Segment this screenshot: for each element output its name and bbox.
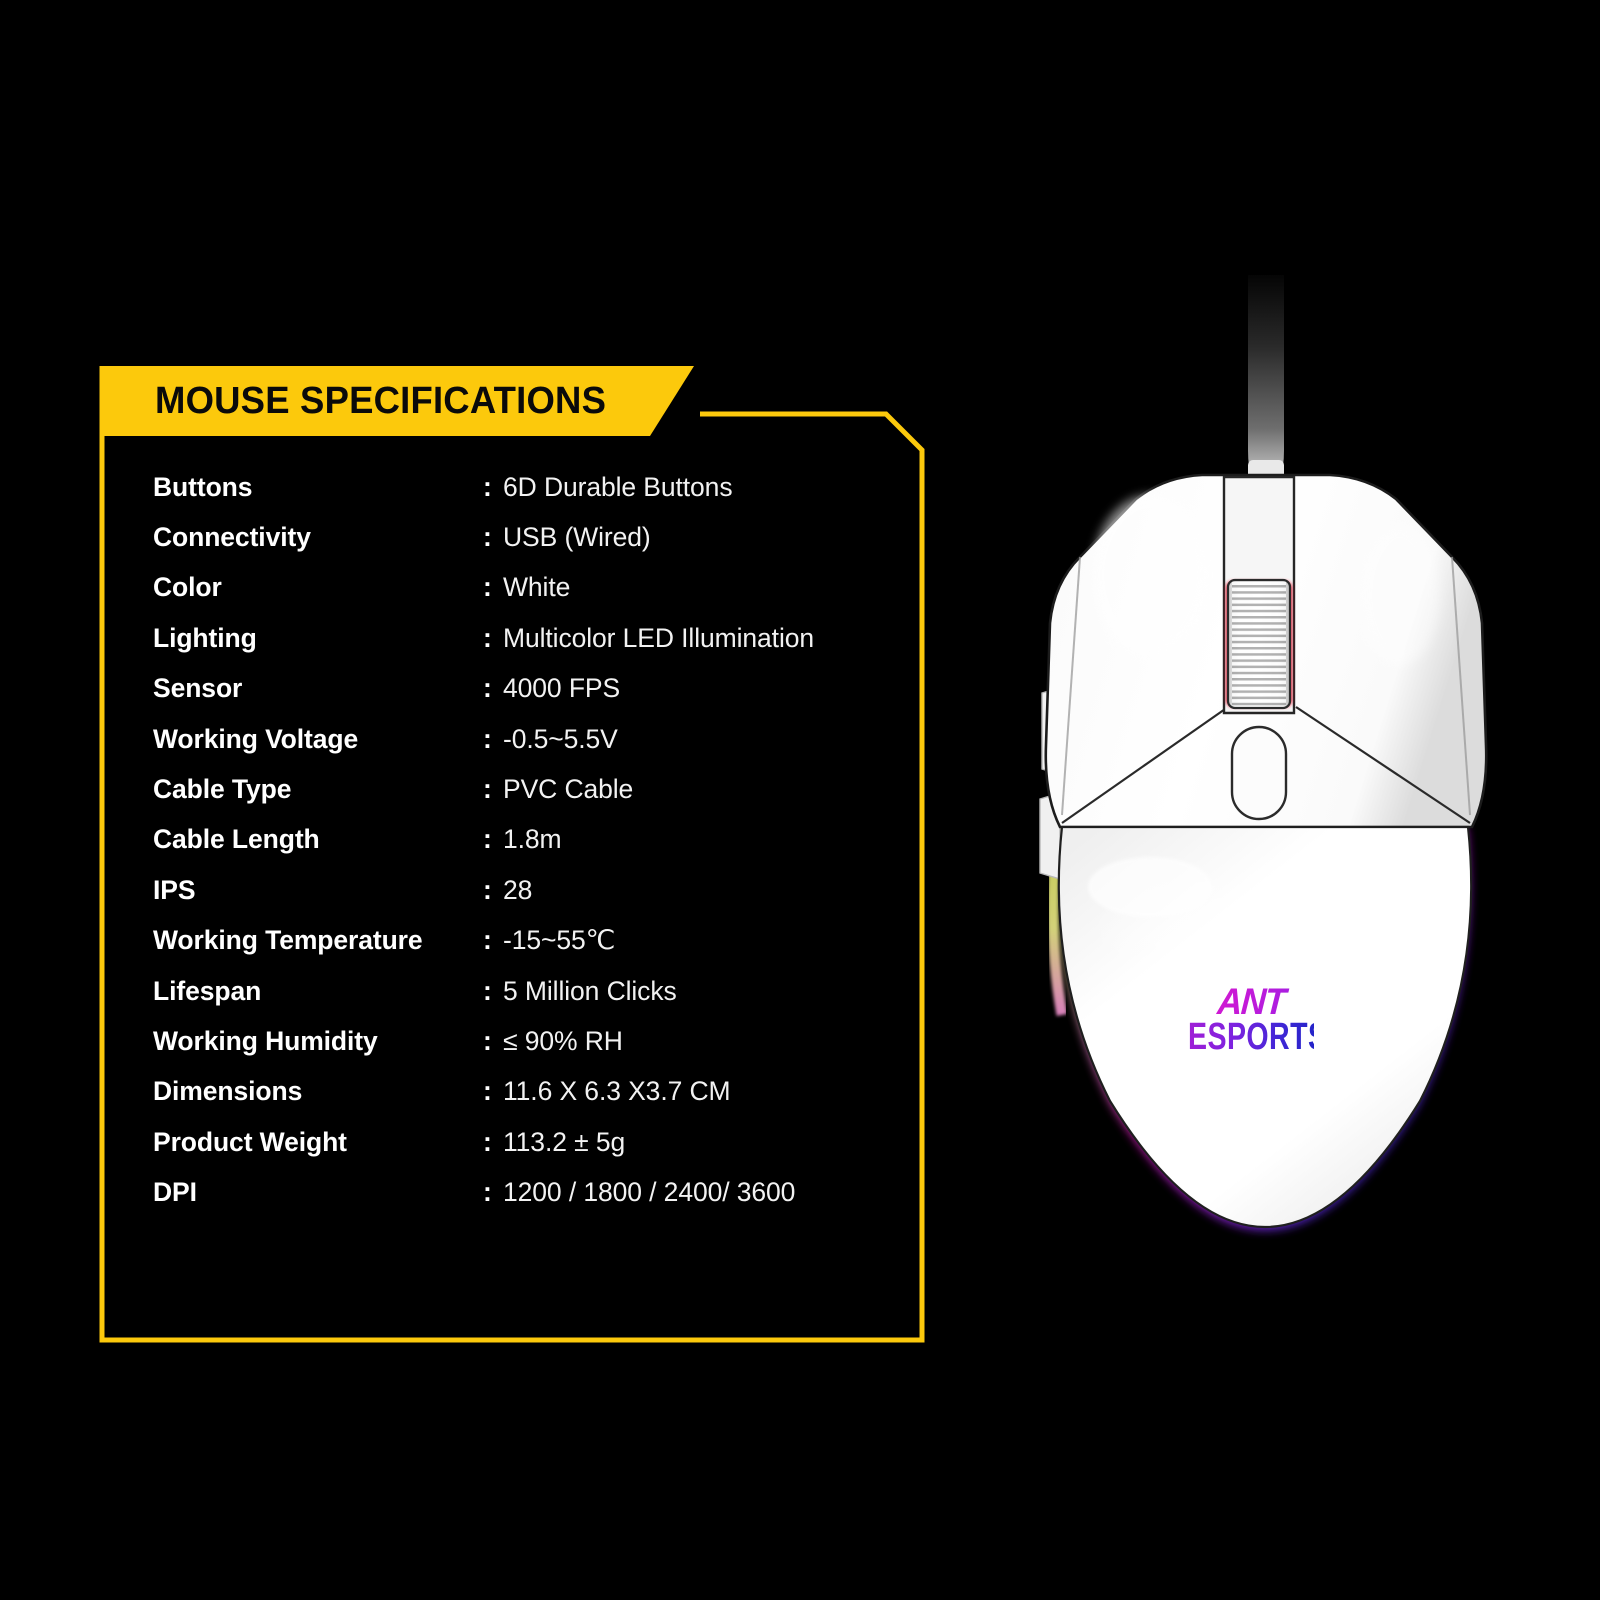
spec-row-lighting: Lighting : Multicolor LED Illumination bbox=[153, 613, 913, 663]
brand-name-ant: ANT bbox=[1179, 985, 1322, 1019]
spec-label: Buttons bbox=[153, 472, 483, 503]
spec-value: 5 Million Clicks bbox=[503, 976, 913, 1007]
spec-label: DPI bbox=[153, 1177, 483, 1208]
spec-row-lifespan: Lifespan : 5 Million Clicks bbox=[153, 966, 913, 1016]
spec-row-buttons: Buttons : 6D Durable Buttons bbox=[153, 462, 913, 512]
spec-label: Lifespan bbox=[153, 976, 483, 1007]
spec-separator: : bbox=[483, 976, 503, 1007]
spec-separator: : bbox=[483, 925, 503, 956]
spec-label: Cable Length bbox=[153, 824, 483, 855]
spec-row-sensor: Sensor : 4000 FPS bbox=[153, 664, 913, 714]
spec-label: Color bbox=[153, 572, 483, 603]
spec-value: PVC Cable bbox=[503, 774, 913, 805]
spec-separator: : bbox=[483, 1076, 503, 1107]
spec-value: 1.8m bbox=[503, 824, 913, 855]
spec-value: 28 bbox=[503, 875, 913, 906]
spec-label: Dimensions bbox=[153, 1076, 483, 1107]
spec-row-dpi: DPI : 1200 / 1800 / 2400/ 3600 bbox=[153, 1167, 913, 1217]
spec-label: IPS bbox=[153, 875, 483, 906]
spec-label: Cable Type bbox=[153, 774, 483, 805]
specification-list: Buttons : 6D Durable Buttons Connectivit… bbox=[153, 462, 913, 1218]
spec-value: USB (Wired) bbox=[503, 522, 913, 553]
spec-value: -0.5~5.5V bbox=[503, 724, 913, 755]
spec-value: ≤ 90% RH bbox=[503, 1026, 913, 1057]
mouse-illustration bbox=[1000, 275, 1530, 1250]
spec-label: Sensor bbox=[153, 673, 483, 704]
spec-label: Lighting bbox=[153, 623, 483, 654]
spec-value: 11.6 X 6.3 X3.7 CM bbox=[503, 1076, 913, 1107]
spec-separator: : bbox=[483, 1026, 503, 1057]
spec-row-ips: IPS : 28 bbox=[153, 865, 913, 915]
spec-row-product-weight: Product Weight : 113.2 ± 5g bbox=[153, 1117, 913, 1167]
spec-row-working-humidity: Working Humidity : ≤ 90% RH bbox=[153, 1016, 913, 1066]
brand-name-esports: ESPORTS bbox=[1188, 1020, 1314, 1055]
mouse-cable bbox=[1248, 275, 1284, 480]
spec-separator: : bbox=[483, 824, 503, 855]
dpi-button bbox=[1232, 727, 1286, 819]
spec-separator: : bbox=[483, 724, 503, 755]
spec-separator: : bbox=[483, 1177, 503, 1208]
spec-separator: : bbox=[483, 572, 503, 603]
spec-row-color: Color : White bbox=[153, 563, 913, 613]
spec-separator: : bbox=[483, 673, 503, 704]
page-title: MOUSE SPECIFICATIONS bbox=[155, 380, 606, 423]
spec-separator: : bbox=[483, 875, 503, 906]
spec-label: Connectivity bbox=[153, 522, 483, 553]
spec-value: -15~55℃ bbox=[503, 925, 913, 956]
spec-label: Product Weight bbox=[153, 1127, 483, 1158]
spec-separator: : bbox=[483, 472, 503, 503]
spec-label: Working Voltage bbox=[153, 724, 483, 755]
spec-separator: : bbox=[483, 623, 503, 654]
spec-value: 113.2 ± 5g bbox=[503, 1127, 913, 1158]
spec-row-connectivity: Connectivity : USB (Wired) bbox=[153, 512, 913, 562]
spec-row-dimensions: Dimensions : 11.6 X 6.3 X3.7 CM bbox=[153, 1067, 913, 1117]
product-image-gaming-mouse: ANT ESPORTS bbox=[1000, 275, 1530, 1250]
spec-row-working-temperature: Working Temperature : -15~55℃ bbox=[153, 916, 913, 966]
spec-row-cable-type: Cable Type : PVC Cable bbox=[153, 764, 913, 814]
spec-value: White bbox=[503, 572, 913, 603]
spec-value: 6D Durable Buttons bbox=[503, 472, 913, 503]
spec-row-cable-length: Cable Length : 1.8m bbox=[153, 815, 913, 865]
spec-label: Working Temperature bbox=[153, 925, 483, 956]
spec-separator: : bbox=[483, 1127, 503, 1158]
scroll-wheel bbox=[1228, 580, 1290, 708]
spec-separator: : bbox=[483, 522, 503, 553]
brand-logo: ANT ESPORTS bbox=[1176, 985, 1326, 1051]
spec-value: Multicolor LED Illumination bbox=[503, 623, 913, 654]
mouse-specifications-panel: MOUSE SPECIFICATIONS Buttons : 6D Durabl… bbox=[96, 362, 928, 1344]
spec-value: 4000 FPS bbox=[503, 673, 913, 704]
panel-header-banner: MOUSE SPECIFICATIONS bbox=[102, 366, 694, 436]
spec-label: Working Humidity bbox=[153, 1026, 483, 1057]
spec-separator: : bbox=[483, 774, 503, 805]
spec-value: 1200 / 1800 / 2400/ 3600 bbox=[503, 1177, 913, 1208]
spec-row-working-voltage: Working Voltage : -0.5~5.5V bbox=[153, 714, 913, 764]
